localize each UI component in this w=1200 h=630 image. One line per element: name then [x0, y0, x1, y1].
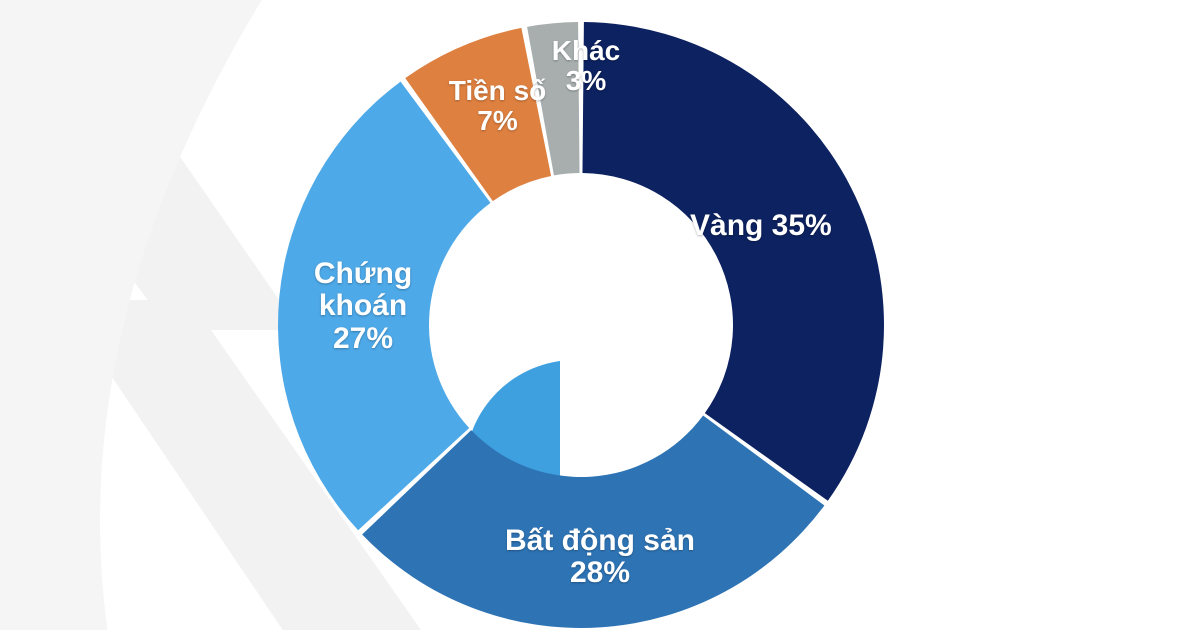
chart-canvas: Vàng 35% Bất động sản 28% Chứng khoán 27… [0, 0, 1200, 630]
donut-chart [0, 0, 1200, 630]
donut-slice-group [278, 22, 884, 628]
donut-slice[interactable] [582, 22, 884, 501]
